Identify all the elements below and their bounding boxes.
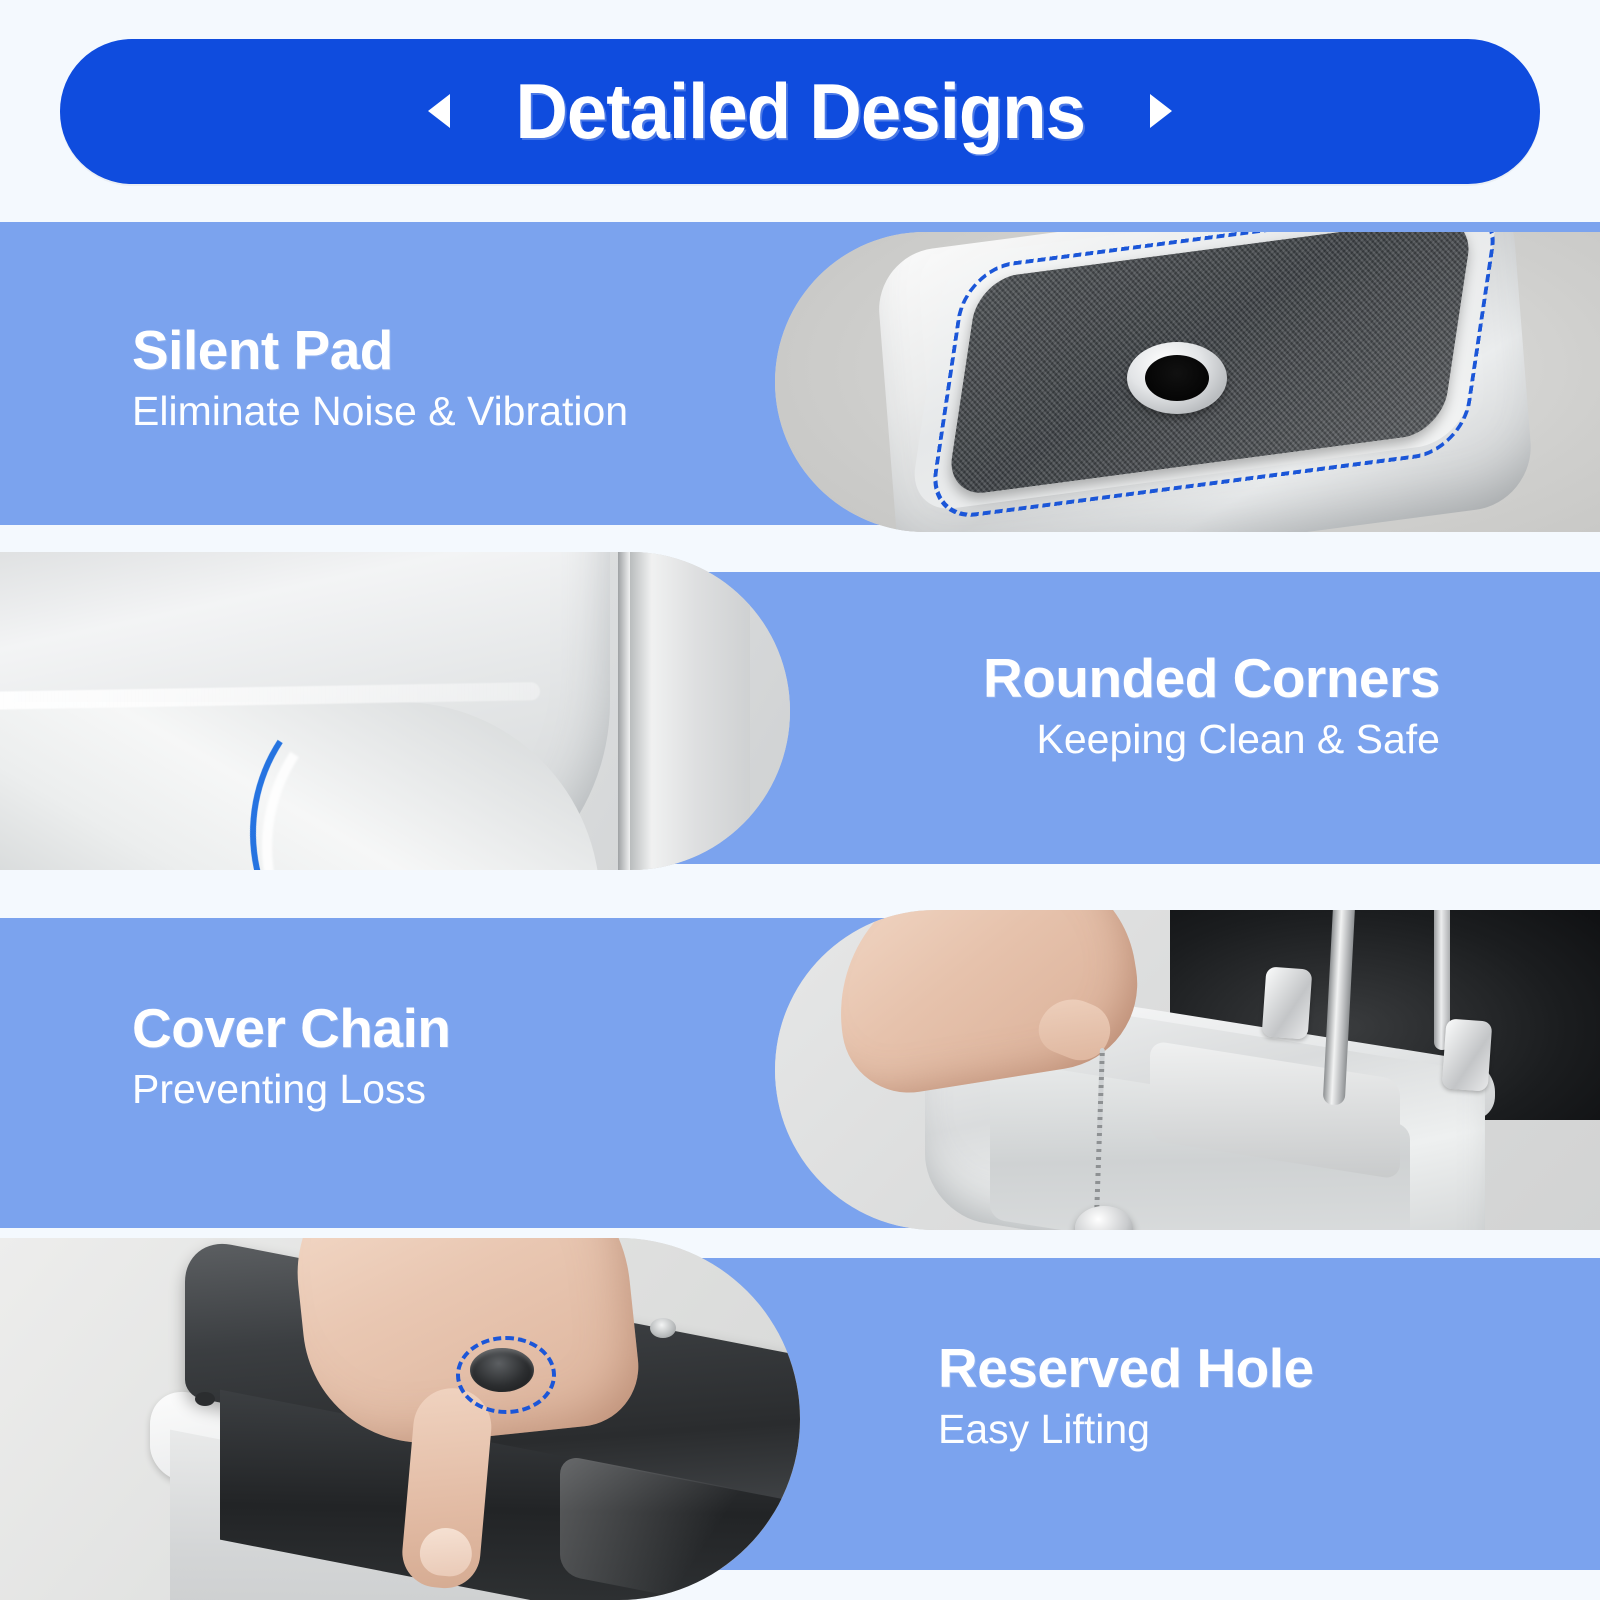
feature-subtitle: Eliminate Noise & Vibration [132,389,628,434]
header-pill: Detailed Designs [60,39,1540,184]
drain-collar-shape [1127,342,1227,414]
feature-title: Cover Chain [132,1000,450,1057]
feature-text-cover-chain: Cover Chain Preventing Loss [132,1000,450,1112]
feature-text-rounded-corners: Rounded Corners Keeping Clean & Safe [983,650,1440,762]
feature-image-rounded-corners [0,552,790,870]
feature-subtitle: Preventing Loss [132,1067,450,1112]
drain-hole-shape [1145,355,1209,401]
feature-image-cover-chain [775,910,1600,1230]
feature-title: Silent Pad [132,322,628,379]
screw-icon [650,1318,676,1338]
sink-outer-edge [630,552,750,870]
blue-dashed-circle-icon [456,1336,556,1414]
faucet-hinge-shape [1442,1018,1493,1091]
triangle-left-icon [428,94,450,128]
infographic-page: Detailed Designs Silent Pad Eliminate No… [0,0,1600,1600]
header: Detailed Designs [0,0,1600,222]
overflow-hole-shape [195,1392,215,1406]
triangle-right-icon [1150,94,1172,128]
feature-text-silent-pad: Silent Pad Eliminate Noise & Vibration [132,322,628,434]
feature-image-reserved-hole [0,1238,800,1600]
feature-subtitle: Keeping Clean & Safe [983,717,1440,762]
feature-title: Reserved Hole [938,1340,1314,1397]
feature-subtitle: Easy Lifting [938,1407,1314,1452]
faucet-hinge-shape [1262,966,1313,1039]
page-title: Detailed Designs [515,72,1085,150]
feature-text-reserved-hole: Reserved Hole Easy Lifting [938,1340,1314,1452]
feature-image-silent-pad [775,232,1600,532]
feature-title: Rounded Corners [983,650,1440,707]
